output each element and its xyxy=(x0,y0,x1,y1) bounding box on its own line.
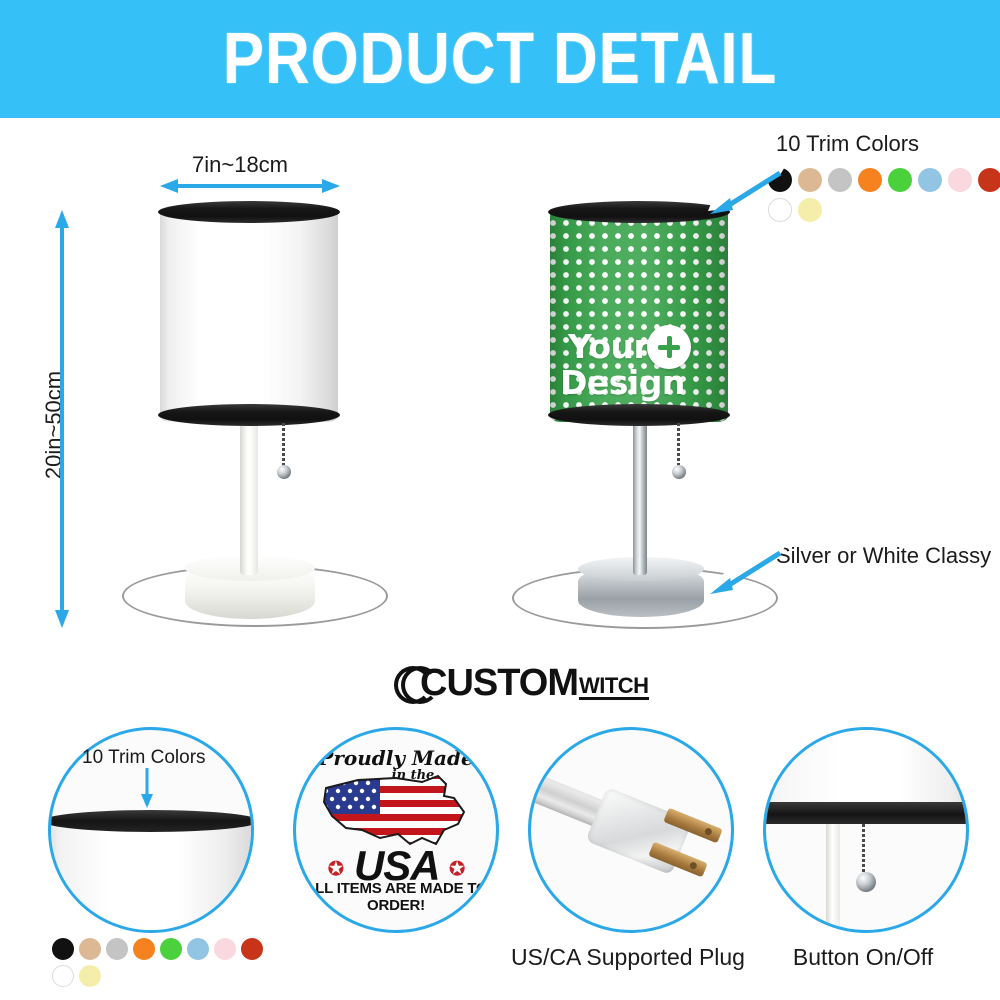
lamp-stem-white xyxy=(240,417,258,575)
switch-closeup-stem xyxy=(826,824,840,930)
lamp-trim-bottom-green xyxy=(548,404,730,426)
trim-color-swatch-white[interactable] xyxy=(52,965,74,987)
trim-color-swatch-pink[interactable] xyxy=(214,938,236,960)
trim-color-swatch-yellow[interactable] xyxy=(798,198,822,222)
lamp-white xyxy=(110,195,400,655)
switch-pull-chain-line xyxy=(862,824,865,876)
feature-plug-caption: US/CA Supported Plug xyxy=(505,944,751,971)
lamp-shade-white xyxy=(160,207,338,422)
height-dimension-arrow xyxy=(54,210,70,628)
trim-color-swatch-gray[interactable] xyxy=(828,168,852,192)
product-detail-infographic: PRODUCT DETAIL 10 Trim Colors 7in~18cm 2… xyxy=(0,0,1000,1000)
trim-color-swatch-red[interactable] xyxy=(978,168,1000,192)
switch-closeup-trim xyxy=(763,802,969,824)
lamp-trim-top-white xyxy=(158,201,340,223)
your-design-line2: Design xyxy=(560,365,685,401)
pull-chain-ball-silver xyxy=(672,465,686,479)
feature-switch-caption: Button On/Off xyxy=(765,944,961,971)
trim-color-swatches-bottom[interactable] xyxy=(52,938,282,987)
trim-color-swatch-green[interactable] xyxy=(160,938,182,960)
brand-logo-mark xyxy=(392,663,432,703)
your-design-line1: Your xyxy=(568,329,649,365)
brand-logo: CUSTOM WITCH xyxy=(392,663,649,703)
trim-color-swatch-light-blue[interactable] xyxy=(918,168,942,192)
brand-logo-witch: WITCH xyxy=(579,675,649,700)
usa-star-right: ✪ xyxy=(449,858,465,880)
pull-chain-line-silver xyxy=(677,423,680,469)
trim-color-swatch-tan[interactable] xyxy=(798,168,822,192)
pull-chain-ball-white xyxy=(277,465,291,479)
feature-trim-colors-caption: 10 Trim Colors xyxy=(82,747,206,769)
trim-color-swatch-green[interactable] xyxy=(888,168,912,192)
lamp-stem-silver xyxy=(633,417,647,575)
lamp-shade-green: Your Design xyxy=(550,207,728,422)
width-dimension-arrow xyxy=(160,178,340,194)
shade-closeup-trim xyxy=(48,810,254,832)
usa-badge: Proudly Made in the xyxy=(296,730,496,930)
trim-color-swatch-red[interactable] xyxy=(241,938,263,960)
trim-color-swatch-light-blue[interactable] xyxy=(187,938,209,960)
switch-closeup-shade xyxy=(763,727,969,804)
trim-colors-down-arrow xyxy=(139,768,155,808)
usa-badge-subtitle: ALL ITEMS ARE MADE TO ORDER! xyxy=(296,880,496,914)
feature-circle-made-in-usa: Proudly Made in the xyxy=(293,727,499,933)
feature-circle-switch xyxy=(763,727,969,933)
trim-color-swatch-tan[interactable] xyxy=(79,938,101,960)
trim-color-swatch-pink[interactable] xyxy=(948,168,972,192)
lamp-trim-bottom-white xyxy=(158,404,340,426)
trim-colors-title-top: 10 Trim Colors xyxy=(776,131,919,157)
header-banner: PRODUCT DETAIL xyxy=(0,0,1000,118)
trim-color-swatch-yellow[interactable] xyxy=(79,965,101,987)
switch-pull-chain-ball[interactable] xyxy=(856,872,876,892)
brand-logo-custom: CUSTOM xyxy=(420,664,578,702)
trim-color-swatch-black[interactable] xyxy=(52,938,74,960)
shade-closeup-body xyxy=(48,818,254,933)
base-finish-label: Silver or White Classy xyxy=(776,543,991,569)
trim-color-swatch-orange[interactable] xyxy=(133,938,155,960)
base-finish-callout-arrow xyxy=(700,545,790,601)
lamp-shade-surface-white xyxy=(160,207,338,422)
feature-circle-plug xyxy=(528,727,734,933)
trim-colors-callout-arrow xyxy=(700,165,790,221)
page-title: PRODUCT DETAIL xyxy=(70,22,930,96)
trim-color-swatch-gray[interactable] xyxy=(106,938,128,960)
trim-color-swatch-orange[interactable] xyxy=(858,168,882,192)
width-dimension-label: 7in~18cm xyxy=(192,152,288,178)
usa-badge-line1: Proudly Made xyxy=(318,746,473,770)
usa-star-left: ✪ xyxy=(328,858,344,880)
pull-chain-line-white xyxy=(282,423,285,469)
trim-color-swatches-top[interactable] xyxy=(768,168,1000,222)
